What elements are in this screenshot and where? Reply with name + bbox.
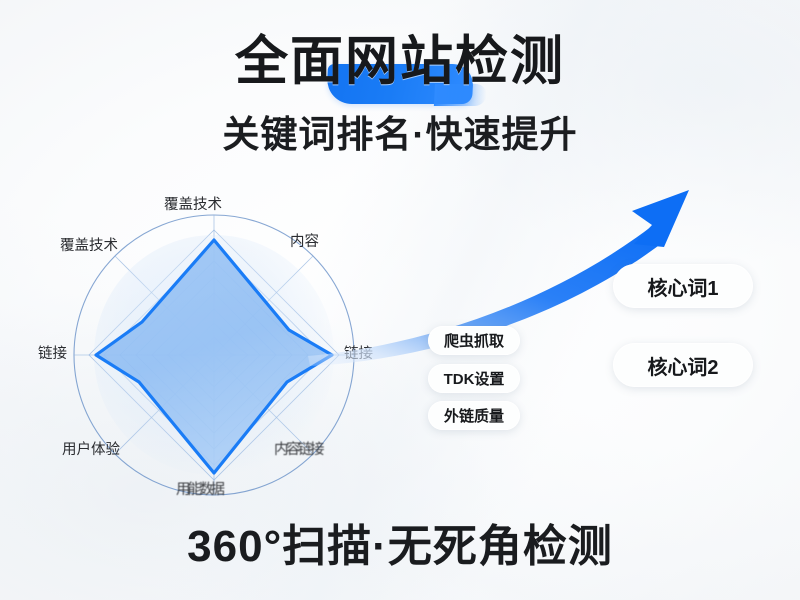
radar-axis-label-bottom-right: 内容链接: [274, 438, 322, 459]
detail-pill-label: TDK设置: [444, 368, 505, 389]
detail-pill-backlink[interactable]: 外链质量: [428, 401, 520, 430]
keyword-pill-2[interactable]: 核心词2: [613, 343, 753, 387]
radar-axis-label-top: 覆盖技术: [164, 193, 222, 214]
poster-canvas: 全面网站检测 关键词排名·快速提升: [0, 0, 800, 600]
detail-pill-label: 外链质量: [444, 405, 504, 426]
detail-pill-label: 爬虫抓取: [444, 330, 504, 351]
radar-axis-label-top-left: 覆盖技术: [60, 234, 118, 255]
keyword-pill-label: 核心词1: [647, 272, 718, 301]
radar-axis-label-left: 链接: [38, 342, 67, 363]
keyword-pill-label: 核心词2: [647, 351, 718, 380]
page-subtitle: 关键词排名·快速提升: [0, 104, 800, 158]
headline-block: 全面网站检测 关键词排名·快速提升: [0, 34, 800, 158]
radar-axis-label-bottom: 用能数据: [176, 478, 222, 499]
detail-pill-tdk[interactable]: TDK设置: [428, 364, 520, 393]
detail-pill-crawl[interactable]: 爬虫抓取: [428, 326, 520, 355]
title-row: 全面网站检测: [235, 34, 565, 90]
arrow-head: [632, 190, 689, 247]
page-title: 全面网站检测: [235, 34, 565, 90]
radar-axis-label-bottom-left: 用户体验: [62, 438, 120, 459]
keyword-pill-1[interactable]: 核心词1: [613, 264, 753, 308]
bottom-headline: 360°扫描·无死角检测: [0, 510, 800, 574]
